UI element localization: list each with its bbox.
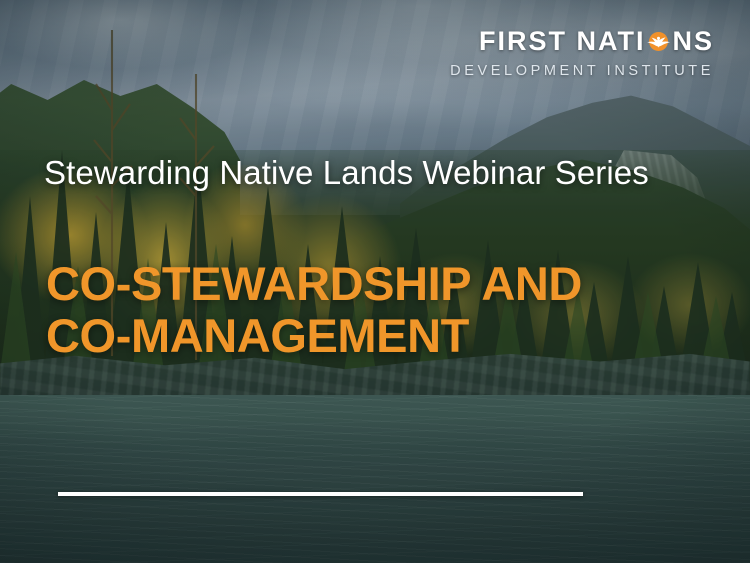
headline-line-2: CO-MANAGEMENT <box>46 310 582 362</box>
headline-line-1: CO-STEWARDSHIP AND <box>46 258 582 310</box>
series-title: Stewarding Native Lands Webinar Series <box>44 155 649 191</box>
sun-and-eagle-icon <box>646 29 671 54</box>
slide-headline: CO-STEWARDSHIP AND CO-MANAGEMENT <box>46 258 582 362</box>
logo-tagline: DEVELOPMENT INSTITUTE <box>450 64 714 79</box>
logo-wordmark-before: FIRST NATI <box>479 28 645 55</box>
divider-rule <box>58 492 583 496</box>
logo-wordmark-after: NS <box>672 28 714 55</box>
logo-wordmark: FIRST NATI NS <box>450 28 714 55</box>
first-nations-logo: FIRST NATI NS DEVELOPMENT INSTITUTE <box>450 28 714 79</box>
webinar-title-slide: FIRST NATI NS DEVELOPMENT INSTITUTE Stew… <box>0 0 750 563</box>
eagle-icon <box>646 30 671 53</box>
